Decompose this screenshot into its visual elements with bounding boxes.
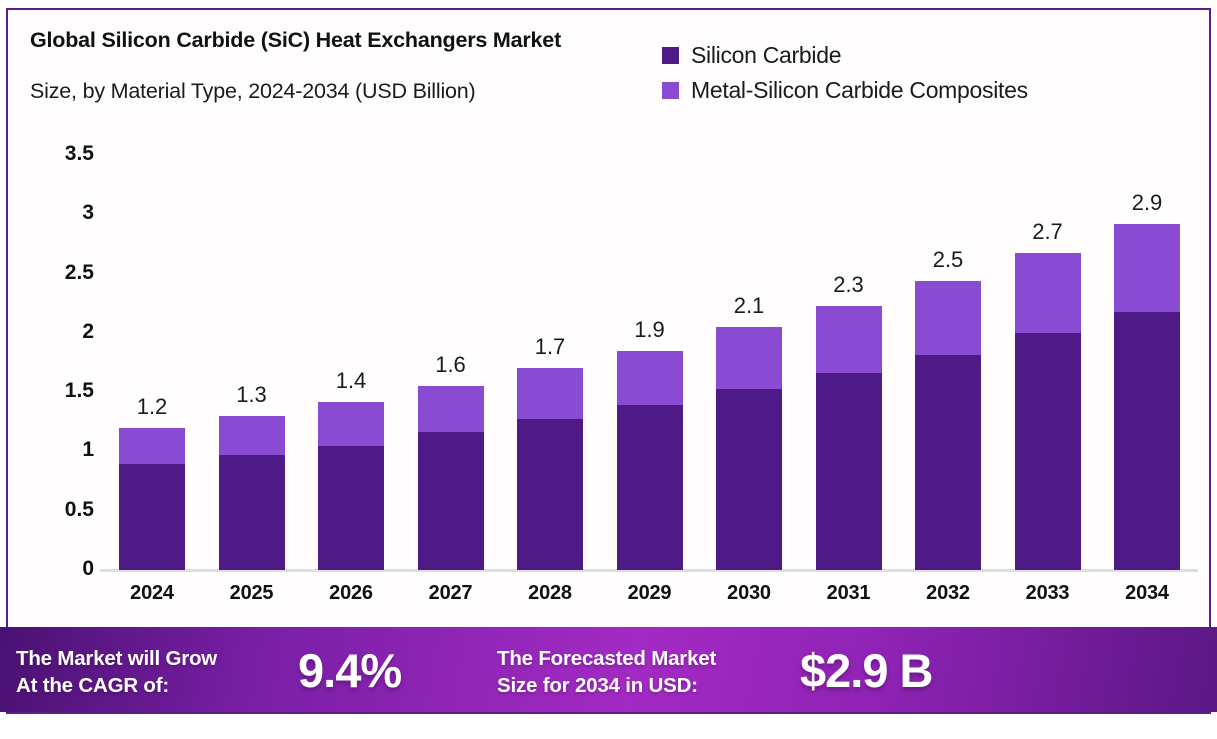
bar-total-label: 2.9 — [1132, 190, 1163, 216]
bar-total-label: 2.7 — [1032, 219, 1063, 245]
y-axis-tick-label: 1.5 — [24, 379, 94, 403]
x-axis-tick-label: 2031 — [804, 582, 894, 605]
bar-segment-silicon-carbide[interactable] — [418, 432, 484, 570]
cagr-value: 9.4% — [298, 643, 401, 698]
bar-segment-silicon-carbide[interactable] — [915, 355, 981, 570]
forecast-value: $2.9 B — [800, 643, 932, 698]
bar-segment-metal-silicon-carbide-composites[interactable] — [1114, 224, 1180, 312]
bar-column[interactable]: 1.6 — [418, 386, 484, 570]
x-axis-tick-label: 2024 — [107, 582, 197, 605]
bar-segment-metal-silicon-carbide-composites[interactable] — [1015, 253, 1081, 332]
bar-segment-silicon-carbide[interactable] — [716, 389, 782, 570]
forecast-label: The Forecasted Market Size for 2034 in U… — [497, 645, 716, 699]
bar-series-group: 1.21.31.41.61.71.92.12.32.52.72.9 — [100, 140, 1200, 570]
x-axis-tick-label: 2025 — [207, 582, 297, 605]
bar-total-label: 1.2 — [137, 394, 168, 420]
bar-segment-silicon-carbide[interactable] — [816, 373, 882, 570]
y-axis-tick-label: 3.5 — [24, 142, 94, 166]
bar-segment-silicon-carbide[interactable] — [617, 405, 683, 570]
x-axis-tick-label: 2027 — [406, 582, 496, 605]
bar-total-label: 1.4 — [336, 368, 367, 394]
bar-segment-metal-silicon-carbide-composites[interactable] — [318, 402, 384, 446]
x-axis-tick-label: 2029 — [605, 582, 695, 605]
x-axis-tick-label: 2032 — [903, 582, 993, 605]
x-axis-tick-label: 2030 — [704, 582, 794, 605]
cagr-label: The Market will Grow At the CAGR of: — [16, 645, 217, 699]
bar-column[interactable]: 2.1 — [716, 327, 782, 570]
bar-segment-silicon-carbide[interactable] — [219, 455, 285, 570]
bar-total-label: 1.6 — [435, 352, 466, 378]
bar-total-label: 2.5 — [933, 247, 964, 273]
bar-total-label: 1.7 — [535, 334, 566, 360]
forecast-label-line2: Size for 2034 in USD: — [497, 674, 698, 697]
bar-segment-metal-silicon-carbide-composites[interactable] — [119, 428, 185, 465]
bar-total-label: 2.3 — [833, 272, 864, 298]
bar-segment-silicon-carbide[interactable] — [119, 464, 185, 570]
bar-column[interactable]: 2.9 — [1114, 224, 1180, 570]
bar-segment-metal-silicon-carbide-composites[interactable] — [418, 386, 484, 432]
bar-column[interactable]: 1.7 — [517, 368, 583, 570]
y-axis-tick-label: 0 — [24, 557, 94, 581]
y-axis-tick-label: 2 — [24, 320, 94, 344]
x-axis-tick-label: 2034 — [1102, 582, 1192, 605]
plot-area: 00.511.522.533.5 1.21.31.41.61.71.92.12.… — [8, 10, 1213, 624]
summary-banner: The Market will Grow At the CAGR of: 9.4… — [0, 627, 1217, 712]
cagr-label-line1: The Market will Grow — [16, 647, 217, 670]
bar-segment-silicon-carbide[interactable] — [1114, 312, 1180, 570]
bar-segment-silicon-carbide[interactable] — [517, 419, 583, 570]
y-axis: 00.511.522.533.5 — [22, 10, 94, 624]
x-axis-tick-label: 2026 — [306, 582, 396, 605]
bar-segment-silicon-carbide[interactable] — [318, 446, 384, 571]
bar-total-label: 2.1 — [734, 293, 765, 319]
bar-column[interactable]: 2.5 — [915, 281, 981, 570]
y-axis-tick-label: 2.5 — [24, 261, 94, 285]
bar-segment-metal-silicon-carbide-composites[interactable] — [219, 416, 285, 455]
bar-segment-metal-silicon-carbide-composites[interactable] — [816, 306, 882, 374]
bar-total-label: 1.9 — [634, 317, 665, 343]
bar-segment-metal-silicon-carbide-composites[interactable] — [915, 281, 981, 356]
cagr-label-line2: At the CAGR of: — [16, 674, 169, 697]
bar-column[interactable]: 1.2 — [119, 428, 185, 570]
x-axis-tick-label: 2028 — [505, 582, 595, 605]
y-axis-tick-label: 0.5 — [24, 498, 94, 522]
bar-column[interactable]: 1.4 — [318, 402, 384, 570]
bar-segment-metal-silicon-carbide-composites[interactable] — [716, 327, 782, 389]
bar-segment-silicon-carbide[interactable] — [1015, 333, 1081, 570]
forecast-label-line1: The Forecasted Market — [497, 647, 716, 670]
y-axis-tick-label: 1 — [24, 438, 94, 462]
bar-segment-metal-silicon-carbide-composites[interactable] — [517, 368, 583, 419]
y-axis-tick-label: 3 — [24, 201, 94, 225]
bar-column[interactable]: 1.9 — [617, 351, 683, 570]
bar-column[interactable]: 1.3 — [219, 416, 285, 570]
chart-infographic: Global Silicon Carbide (SiC) Heat Exchan… — [0, 0, 1217, 739]
x-axis-tick-label: 2033 — [1003, 582, 1093, 605]
bar-column[interactable]: 2.7 — [1015, 253, 1081, 570]
chart-card: Global Silicon Carbide (SiC) Heat Exchan… — [6, 8, 1211, 714]
bar-total-label: 1.3 — [236, 382, 267, 408]
bar-column[interactable]: 2.3 — [816, 306, 882, 570]
bar-segment-metal-silicon-carbide-composites[interactable] — [617, 351, 683, 406]
